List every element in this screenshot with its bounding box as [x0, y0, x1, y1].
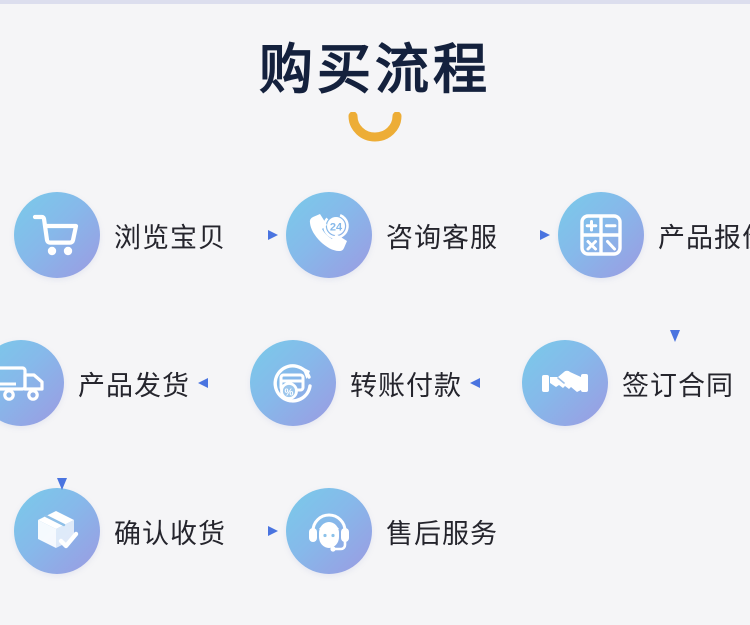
step-browse-products[interactable]: 浏览宝贝 [14, 192, 226, 278]
step-label: 售后服务 [386, 512, 498, 551]
step-transfer-payment[interactable]: % 转账付款 [250, 340, 462, 426]
flow-row-2: 签订合同 [0, 333, 750, 433]
svg-text:24: 24 [330, 222, 343, 234]
step-label: 产品报价 [658, 216, 750, 255]
step-label: 浏览宝贝 [114, 216, 226, 255]
step-icon-bubble [558, 192, 644, 278]
step-label: 咨询客服 [386, 216, 498, 255]
step-product-shipping[interactable]: 产品发货 [0, 340, 190, 426]
arrow-browse-to-consult [232, 226, 280, 244]
step-confirm-receipt[interactable]: 确认收货 [14, 488, 226, 574]
arrow-right-icon [232, 227, 280, 243]
step-product-quote[interactable]: 产品报价 [558, 192, 750, 278]
step-icon-bubble [0, 340, 64, 426]
step-label: 转账付款 [350, 364, 462, 403]
arrow-receipt-to-aftersales [232, 522, 280, 540]
smile-arc-icon [347, 112, 403, 142]
arrow-down-icon [665, 290, 685, 344]
step-label: 签订合同 [622, 364, 734, 403]
headset-agent-icon [303, 507, 355, 555]
step-icon-bubble [14, 488, 100, 574]
step-consult-service[interactable]: 24 咨询客服 [286, 192, 498, 278]
flow-row-1: 浏览宝贝 [0, 185, 750, 285]
step-icon-bubble: 24 [286, 192, 372, 278]
transfer-payment-icon: % [268, 358, 318, 408]
arrow-right-icon [504, 227, 552, 243]
arrow-left-icon [196, 375, 244, 391]
delivery-truck-icon [0, 362, 48, 404]
purchase-flow-infographic: 购买流程 浏览宝贝 [0, 0, 750, 625]
flow-row-3: 确认收货 [0, 481, 750, 581]
step-icon-bubble [14, 192, 100, 278]
arrow-right-icon [232, 523, 280, 539]
step-after-sales-service[interactable]: 售后服务 [286, 488, 498, 574]
shopping-cart-icon [32, 212, 82, 258]
page-title: 购买流程 [0, 38, 750, 102]
top-accent-band [0, 0, 750, 4]
arrow-consult-to-quote [504, 226, 552, 244]
arrow-left-icon [468, 375, 516, 391]
calculator-icon [577, 211, 625, 259]
step-label: 产品发货 [78, 364, 190, 403]
step-icon-bubble [522, 340, 608, 426]
step-icon-bubble: % [250, 340, 336, 426]
phone-24h-support-icon: 24 [303, 211, 355, 259]
svg-text:%: % [285, 387, 294, 398]
step-icon-bubble [286, 488, 372, 574]
step-sign-contract[interactable]: 签订合同 [522, 340, 734, 426]
arrow-payment-to-shipping [196, 374, 244, 392]
handshake-icon [539, 361, 591, 405]
row2-to-row3-down-arrow [52, 438, 72, 492]
arrow-down-icon [52, 438, 72, 492]
flow-rows: 浏览宝贝 [0, 185, 750, 581]
title-block: 购买流程 [0, 38, 750, 144]
smile-arc-decoration [0, 112, 750, 144]
step-label: 确认收货 [114, 512, 226, 551]
row1-to-row2-down-arrow [665, 290, 685, 344]
arrow-contract-to-payment [468, 374, 516, 392]
package-check-icon [32, 507, 82, 555]
